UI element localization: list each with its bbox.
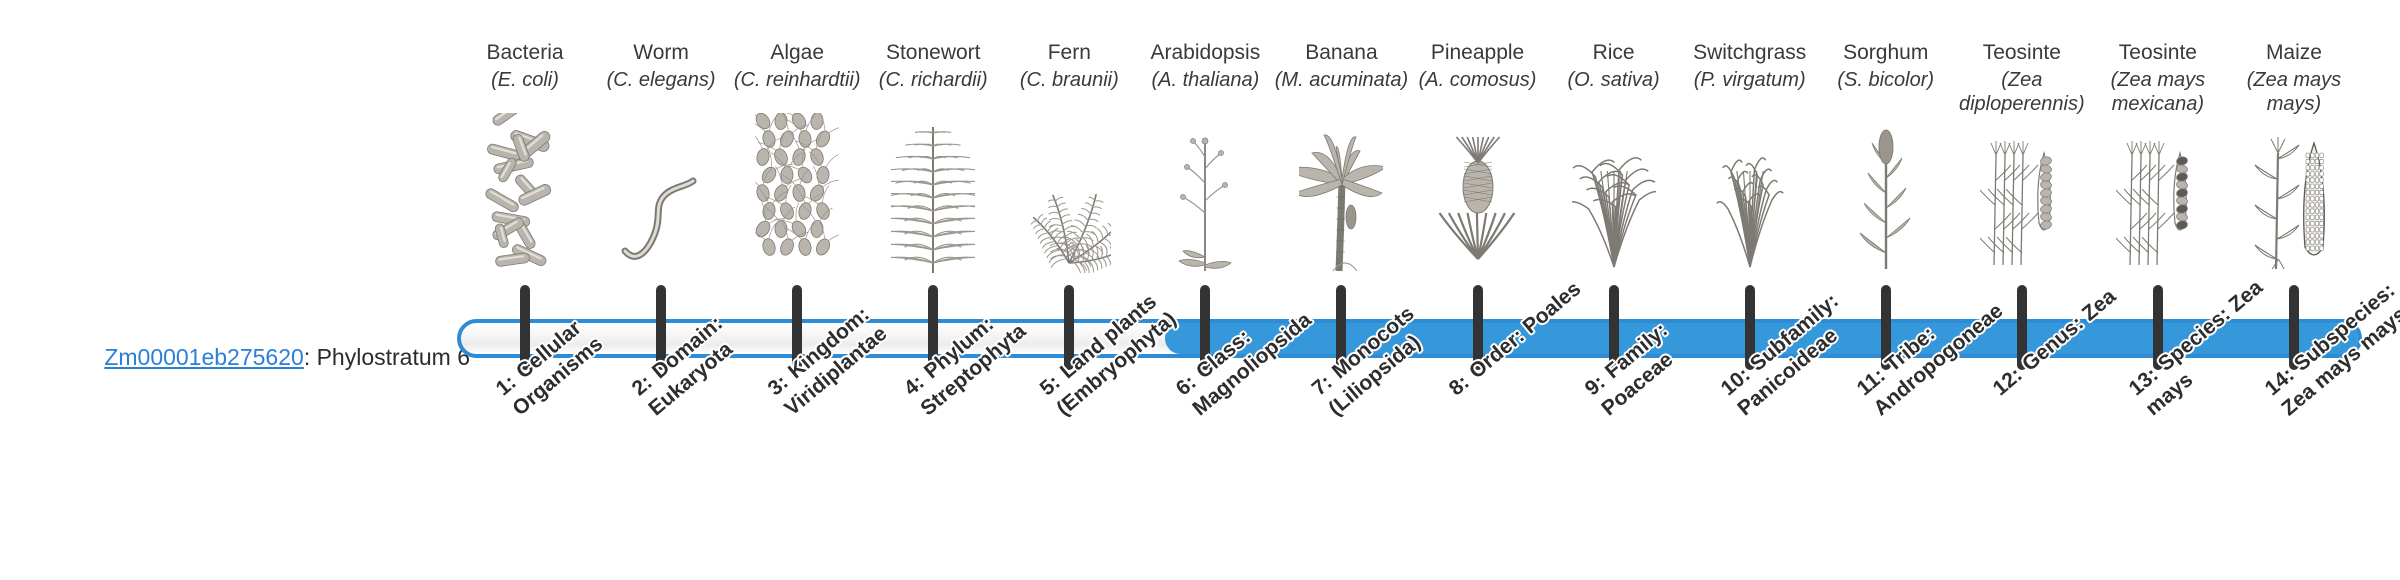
- species-scientific-name: (A. thaliana): [1137, 68, 1273, 92]
- phylostratum-value: Phylostratum 6: [317, 344, 470, 370]
- pineapple-icon: [1410, 168, 1546, 273]
- species-column: Teosinte(Zea diploperennis)12: Genus: Ze…: [1954, 0, 2090, 580]
- species-common-name: Algae: [729, 40, 865, 65]
- species-scientific-name: (C. richardii): [865, 68, 1001, 92]
- species-column: Bacteria(E. coli)1: Cellular Organisms: [457, 0, 593, 580]
- species-column: Fern(C. braunii)5: Land plants (Embryoph…: [1001, 0, 1137, 580]
- gene-label-separator: :: [304, 344, 317, 370]
- species-column: Banana(M. acuminata)7: Monocots (Liliops…: [1273, 0, 1409, 580]
- species-common-name: Teosinte: [1954, 40, 2090, 65]
- species-common-name: Rice: [1546, 40, 1682, 65]
- gene-phylostratum-label: Zm00001eb275620: Phylostratum 6: [30, 343, 470, 371]
- species-column: Switchgrass(P. virgatum)10: Subfamily: P…: [1682, 0, 1818, 580]
- banana-icon: [1273, 168, 1409, 273]
- species-scientific-name: (Zea mays mexicana): [2090, 68, 2226, 116]
- species-common-name: Banana: [1273, 40, 1409, 65]
- species-columns: Bacteria(E. coli)1: Cellular OrganismsWo…: [457, 0, 2362, 580]
- species-scientific-name: (C. elegans): [593, 68, 729, 92]
- rice-icon: [1546, 168, 1682, 273]
- species-scientific-name: (Zea mays mays): [2226, 68, 2362, 116]
- species-scientific-name: (P. virgatum): [1682, 68, 1818, 92]
- maize-icon: [2226, 168, 2362, 273]
- species-scientific-name: (C. braunii): [1001, 68, 1137, 92]
- gene-id-link[interactable]: Zm00001eb275620: [104, 344, 304, 370]
- rank-number: 12:: [1988, 363, 2026, 400]
- arabidopsis-icon: [1137, 168, 1273, 273]
- teosinte-diploperennis-icon: [1954, 168, 2090, 273]
- phylostratum-figure: Zm00001eb275620: Phylostratum 6 Bacteria…: [0, 0, 2400, 580]
- species-common-name: Teosinte: [2090, 40, 2226, 65]
- rank-number: 8:: [1444, 371, 1473, 401]
- species-common-name: Arabidopsis: [1137, 40, 1273, 65]
- species-scientific-name: (S. bicolor): [1818, 68, 1954, 92]
- algae-icon: [729, 168, 865, 273]
- species-column: Sorghum(S. bicolor)11: Tribe: Andropogon…: [1818, 0, 1954, 580]
- species-common-name: Maize: [2226, 40, 2362, 65]
- species-common-name: Bacteria: [457, 40, 593, 65]
- bacteria-icon: [457, 168, 593, 273]
- species-column: Teosinte(Zea mays mexicana)13: Species: …: [2090, 0, 2226, 580]
- species-column: Rice(O. sativa)9: Family: Poaceae: [1546, 0, 1682, 580]
- stonewort-icon: [865, 168, 1001, 273]
- species-scientific-name: (A. comosus): [1410, 68, 1546, 92]
- teosinte-mexicana-icon: [2090, 168, 2226, 273]
- species-scientific-name: (O. sativa): [1546, 68, 1682, 92]
- switchgrass-icon: [1682, 168, 1818, 273]
- worm-icon: [593, 168, 729, 273]
- species-scientific-name: (M. acuminata): [1273, 68, 1409, 92]
- fern-icon: [1001, 168, 1137, 273]
- species-column: Pineapple(A. comosus)8: Order: Poales: [1410, 0, 1546, 580]
- species-common-name: Fern: [1001, 40, 1137, 65]
- species-scientific-name: (E. coli): [457, 68, 593, 92]
- species-column: Maize(Zea mays mays)14: Subspecies: Zea …: [2226, 0, 2362, 580]
- species-column: Stonewort(C. richardii)4: Phylum: Strept…: [865, 0, 1001, 580]
- phylostratum-rank-label: 14: Subspecies: Zea mays mays: [2260, 260, 2400, 422]
- species-column: Arabidopsis(A. thaliana)6: Class: Magnol…: [1137, 0, 1273, 580]
- species-column: Worm(C. elegans)2: Domain: Eukaryota: [593, 0, 729, 580]
- species-scientific-name: (Zea diploperennis): [1954, 68, 2090, 116]
- species-common-name: Pineapple: [1410, 40, 1546, 65]
- species-common-name: Stonewort: [865, 40, 1001, 65]
- species-common-name: Sorghum: [1818, 40, 1954, 65]
- species-column: Algae(C. reinhardtii)3: Kingdom: Viridip…: [729, 0, 865, 580]
- species-common-name: Worm: [593, 40, 729, 65]
- species-scientific-name: (C. reinhardtii): [729, 68, 865, 92]
- species-common-name: Switchgrass: [1682, 40, 1818, 65]
- sorghum-icon: [1818, 168, 1954, 273]
